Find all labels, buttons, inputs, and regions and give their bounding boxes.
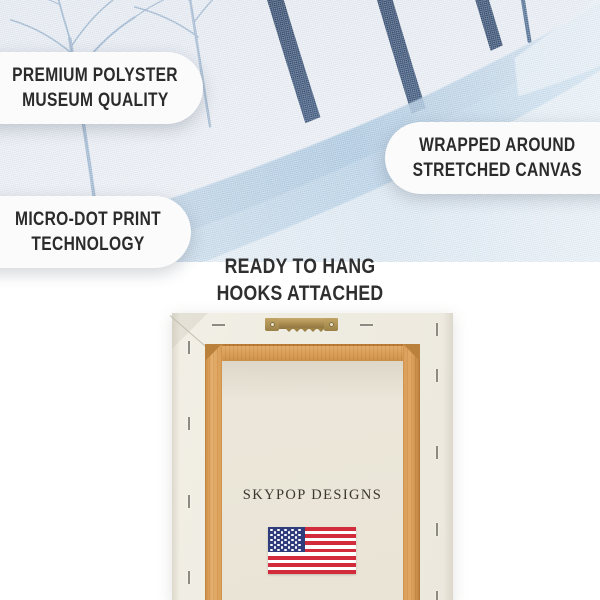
staple	[188, 571, 190, 584]
stretcher-bar-left	[205, 344, 222, 600]
hanger-screw-left	[270, 322, 275, 327]
miter-joint-right	[403, 344, 420, 361]
sawtooth-hanger	[265, 318, 338, 332]
hanger-tooth	[309, 328, 317, 332]
badge-premium-line2: MUSEUM QUALITY	[22, 88, 169, 113]
badge-wrapped-line2: STRETCHED CANVAS	[413, 158, 582, 183]
ready-line2: HOOKS ATTACHED	[48, 280, 552, 307]
hanger-tooth	[293, 328, 301, 332]
badge-premium-line1: PREMIUM POLYSTER	[13, 63, 179, 88]
staple	[436, 323, 438, 336]
canvas-back-view: SKYPOP DESIGNS	[172, 313, 453, 600]
badge-wrapped-around: WRAPPED AROUND STRETCHED CANVAS	[385, 122, 600, 194]
hanger-tooth	[301, 328, 309, 332]
board-right-shading	[443, 313, 453, 600]
badge-premium-polyster: PREMIUM POLYSTER MUSEUM QUALITY	[0, 52, 203, 124]
ready-to-hang-heading: READY TO HANG HOOKS ATTACHED	[0, 253, 600, 307]
ready-line1: READY TO HANG	[48, 253, 552, 280]
hanger-tooth	[285, 328, 293, 332]
flag-canton	[268, 527, 305, 552]
staple	[188, 417, 190, 430]
staple	[212, 324, 225, 326]
board-left-shading	[172, 313, 180, 600]
badge-wrapped-line1: WRAPPED AROUND	[419, 133, 575, 158]
brand-label: SKYPOP DESIGNS	[172, 487, 453, 504]
miter-joint-left	[205, 344, 222, 361]
staple	[436, 523, 438, 536]
staple	[436, 446, 438, 459]
staple	[436, 369, 438, 382]
badge-micro-line1: MICRO-DOT PRINT	[15, 207, 161, 232]
staple	[436, 591, 438, 600]
staple	[360, 324, 373, 326]
stretcher-bar-right	[403, 344, 420, 600]
us-flag-icon	[268, 527, 356, 574]
product-feature-image: PREMIUM POLYSTER MUSEUM QUALITY WRAPPED …	[0, 0, 600, 600]
hanger-screw-right	[329, 322, 334, 327]
staple	[188, 341, 190, 354]
stretcher-bar-top	[205, 344, 420, 361]
